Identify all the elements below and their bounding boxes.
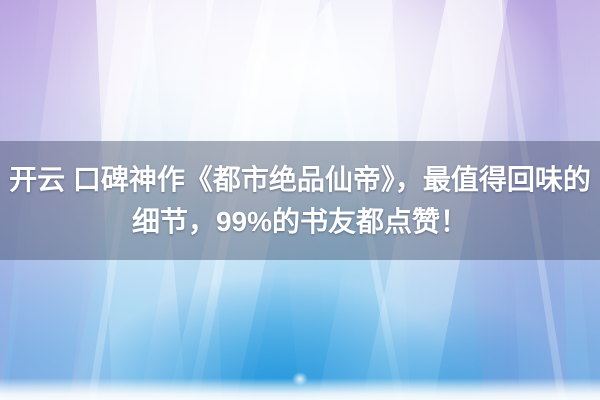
headline-overlay-band: 开云 口碑神作《都市绝品仙帝》，最值得回味的细节，99%的书友都点赞！ [0, 141, 600, 260]
headline-text: 开云 口碑神作《都市绝品仙帝》，最值得回味的细节，99%的书友都点赞！ [0, 159, 600, 243]
background-sparkle-artifact [292, 372, 308, 386]
background-footer-fade [0, 378, 600, 400]
promo-banner: 开云 口碑神作《都市绝品仙帝》，最值得回味的细节，99%的书友都点赞！ [0, 0, 600, 400]
